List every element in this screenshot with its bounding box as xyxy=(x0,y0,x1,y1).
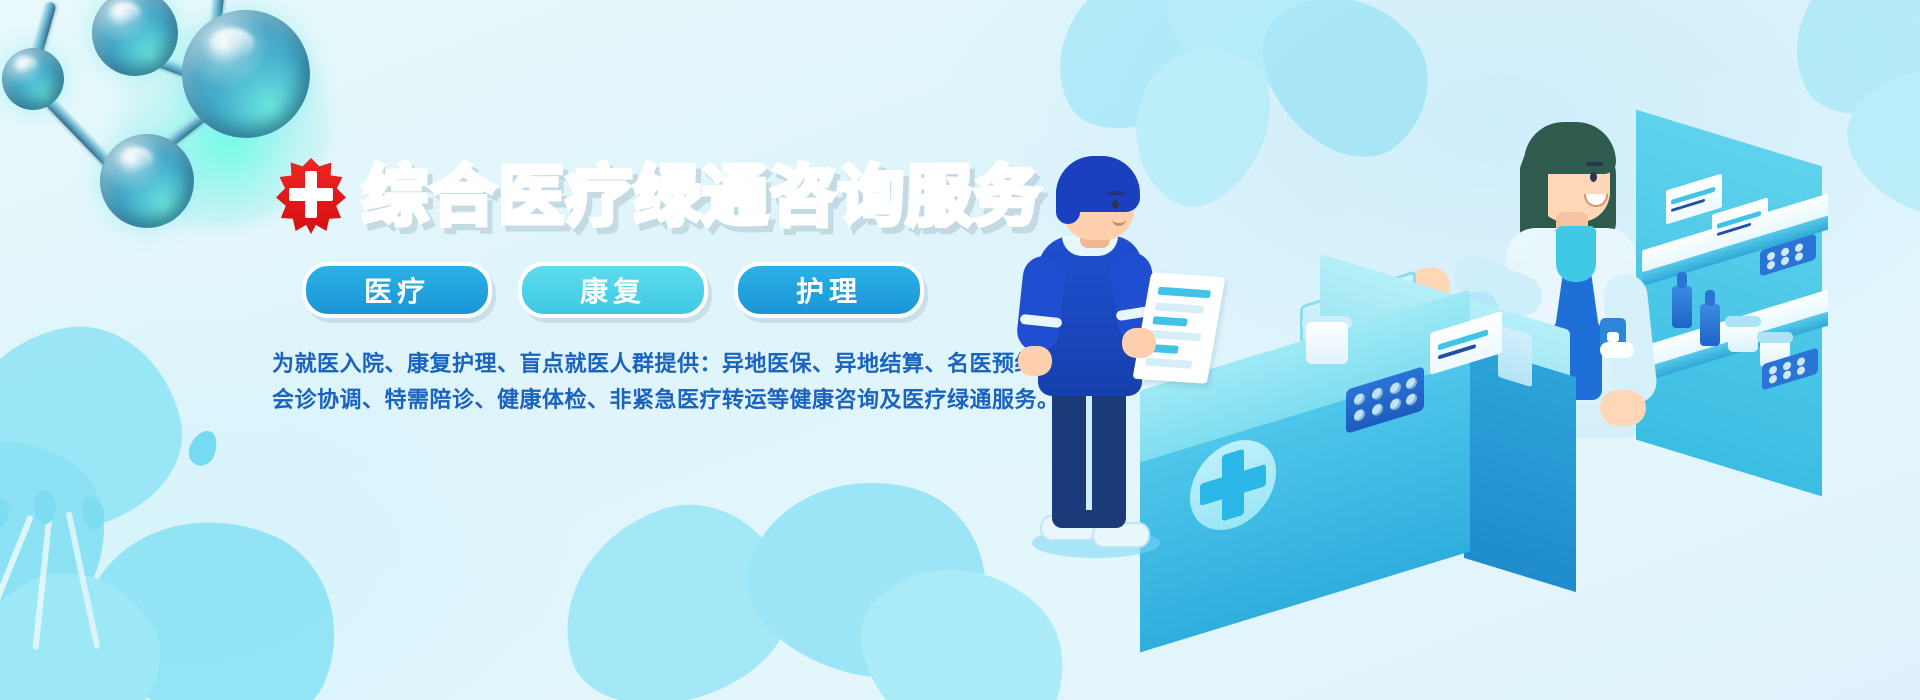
description-line-1: 为就医入院、康复护理、盲点就医人群提供：异地医保、异地结算、名医预约 xyxy=(272,346,984,382)
shelf-jar xyxy=(1728,322,1758,352)
molecule-3d-icon xyxy=(0,0,312,236)
medicine-jar xyxy=(1306,322,1348,364)
dropper-bottle xyxy=(1700,304,1720,346)
banner-content: 综合医疗绿通咨询服务 医疗 康复 护理 为就医入院、康复护理、盲点就医人群提供：… xyxy=(272,150,1032,242)
page-title: 综合医疗绿通咨询服务 xyxy=(362,150,1042,242)
description-line-2: 会诊协调、特需陪诊、健康体检、非紧急医疗转运等健康咨询及医疗绿通服务。 xyxy=(272,382,984,418)
pharmacy-counter-illustration xyxy=(1000,60,1920,620)
description-text: 为就医入院、康复护理、盲点就医人群提供：异地医保、异地结算、名医预约 会诊协调、… xyxy=(272,346,984,418)
red-cross-medical-icon xyxy=(276,158,346,234)
tag-rehabilitation[interactable]: 康复 xyxy=(518,262,708,318)
tag-nursing[interactable]: 护理 xyxy=(734,262,924,318)
title-row: 综合医疗绿通咨询服务 xyxy=(272,150,1032,242)
tag-medical[interactable]: 医疗 xyxy=(302,262,492,318)
dropper-bottle xyxy=(1672,286,1692,328)
medical-service-banner: 综合医疗绿通咨询服务 医疗 康复 护理 为就医入院、康复护理、盲点就医人群提供：… xyxy=(0,0,1920,700)
flower-petal-accent xyxy=(185,427,221,469)
tag-list: 医疗 康复 护理 xyxy=(302,262,924,318)
